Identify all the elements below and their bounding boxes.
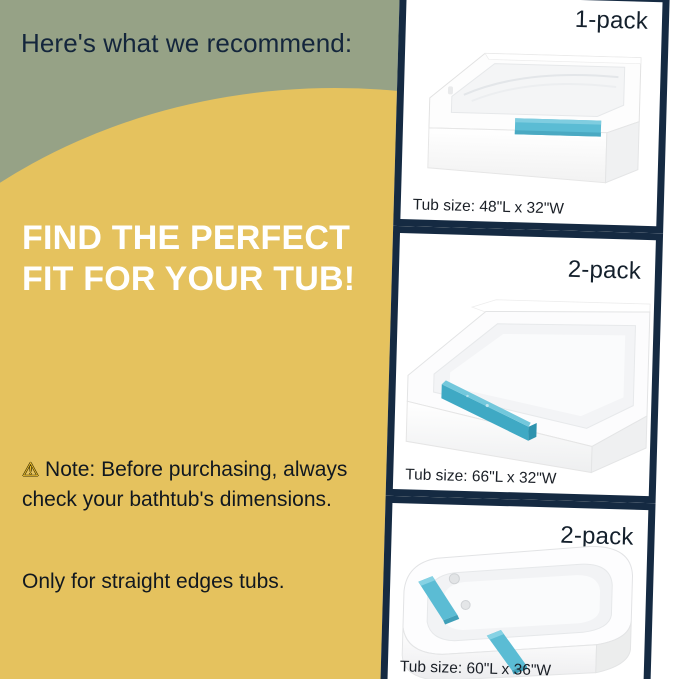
product-panel-1-pack: 1-pack	[393, 0, 670, 233]
bathtub-illustration-wide	[390, 529, 652, 679]
straight-edges-note: Only for straight edges tubs.	[22, 567, 372, 597]
tub-size-caption: Tub size: 60"L x 36"W	[400, 658, 552, 679]
page-title: FIND THE PERFECT FIT FOR YOUR TUB!	[22, 218, 382, 301]
pack-count-label: 2-pack	[567, 256, 641, 286]
bathtub-illustration-long	[395, 291, 662, 478]
product-panel-2-pack-60: 2-pack	[380, 496, 655, 679]
recommend-heading: Here's what we recommend:	[21, 28, 352, 59]
product-panel-2-pack-66: 2-pack	[386, 226, 663, 503]
infographic-canvas: Here's what we recommend: FIND THE PERFE…	[0, 0, 679, 679]
bathtub-illustration-short	[409, 37, 663, 194]
note-block: ⚠Note: Before purchasing, always check y…	[22, 455, 362, 515]
product-panel-stack: 1-pack	[380, 0, 679, 679]
pack-count-label: 1-pack	[574, 6, 648, 36]
left-copy-column: Here's what we recommend: FIND THE PERFE…	[0, 0, 395, 679]
tub-mat-teal-1	[515, 118, 601, 136]
warning-triangle-icon: ⚠	[22, 460, 39, 481]
tub-size-caption: Tub size: 48"L x 32"W	[413, 196, 565, 218]
tub-size-caption: Tub size: 66"L x 32"W	[405, 466, 557, 488]
note-text: Note: Before purchasing, always check yo…	[22, 458, 347, 511]
